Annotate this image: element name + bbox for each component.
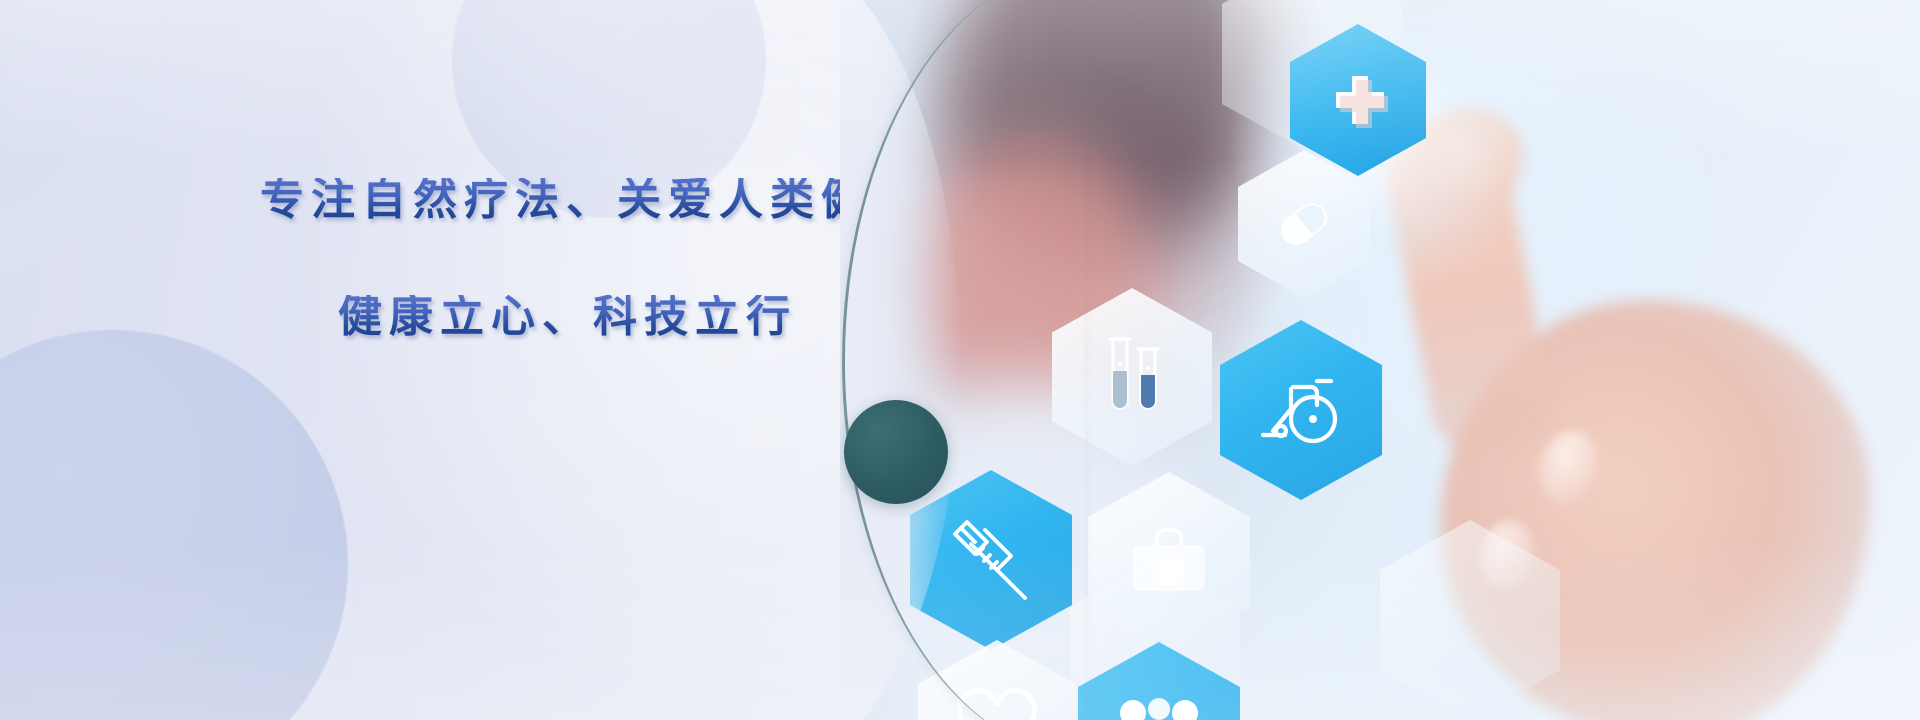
hero-photo [840, 0, 1920, 720]
test-tubes-icon [1089, 331, 1175, 423]
headline-line-2: 健康立心、科技立行 [338, 295, 898, 339]
hero-banner: 专注自然疗法、关爱人类健康 健康立心、科技立行 [0, 0, 1920, 720]
decorative-circle-glow [0, 0, 160, 280]
headline-line-1: 专注自然疗法、关爱人类健康 [260, 178, 898, 222]
capsule-pill-icon [1267, 187, 1341, 261]
headline-block: 专注自然疗法、关爱人类健康 健康立心、科技立行 [258, 178, 898, 339]
teal-circle-accent [844, 400, 948, 504]
decorative-circle-bottom [0, 330, 348, 720]
medical-cross-icon [1322, 64, 1394, 136]
first-aid-kit-icon [1123, 519, 1215, 605]
people-group-icon [1111, 695, 1207, 720]
wheelchair-icon [1255, 367, 1347, 453]
